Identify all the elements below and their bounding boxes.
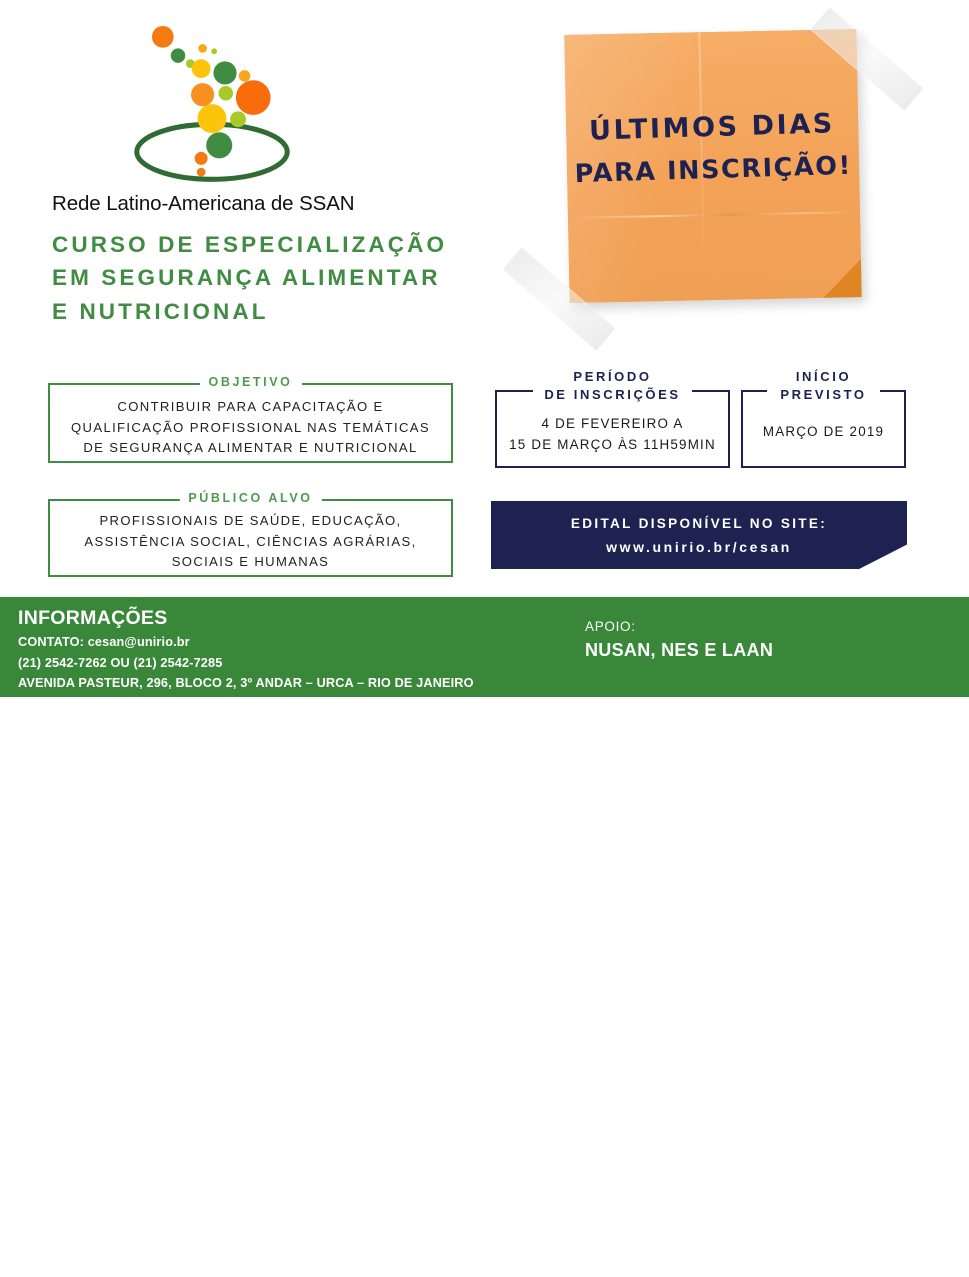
- inicio-box-title: INÍCIO PREVISTO: [741, 368, 906, 405]
- paper-fold-corner-icon: [823, 259, 862, 298]
- logo-dot-15: [197, 168, 206, 177]
- footer-informacoes-block: INFORMAÇÕES CONTATO: cesan@unirio.br (21…: [18, 607, 474, 694]
- logo-dot-14: [195, 152, 208, 165]
- footer-phones: (21) 2542-7262 OU (21) 2542-7285: [18, 653, 474, 674]
- periodo-line-1: 4 DE FEVEREIRO A: [495, 414, 730, 435]
- edital-banner-label: EDITAL DISPONÍVEL NO SITE:: [491, 516, 907, 531]
- page-title-line-1: CURSO DE ESPECIALIZAÇÃO: [52, 228, 482, 261]
- logo-dot-9: [219, 86, 233, 100]
- periodo-title-line-2: DE INSCRIÇÕES: [495, 386, 730, 404]
- footer-contact-email[interactable]: CONTATO: cesan@unirio.br: [18, 632, 474, 653]
- logo-dot-7: [239, 70, 251, 82]
- publico-alvo-box-body: PROFISSIONAIS DE SAÚDE, EDUCAÇÃO, ASSIST…: [50, 501, 451, 573]
- objetivo-line-2: QUALIFICAÇÃO PROFISSIONAL NAS TEMÁTICAS: [58, 418, 443, 439]
- unirio-subtitle-line-1: Universidade Federal do: [894, 1254, 956, 1263]
- footer-heading: INFORMAÇÕES: [18, 607, 474, 630]
- page-title-line-2: EM SEGURANÇA ALIMENTAR: [52, 261, 482, 294]
- footer-apoio-block: APOIO: NUSAN, NES E LAAN: [585, 619, 773, 661]
- sticky-note-text: ÚLTIMOS DIAS PARA INSCRIÇÃO!: [565, 102, 859, 196]
- periodo-title-line-1: PERÍODO: [495, 368, 730, 386]
- publico-alvo-line-1: PROFISSIONAIS DE SAÚDE, EDUCAÇÃO,: [58, 511, 443, 532]
- apoio-value: NUSAN, NES E LAAN: [585, 640, 773, 661]
- footer-address: AVENIDA PASTEUR, 296, BLOCO 2, 3º ANDAR …: [18, 673, 474, 694]
- logo-dot-6: [213, 61, 236, 84]
- logo-dot-8: [191, 83, 214, 106]
- edital-banner[interactable]: EDITAL DISPONÍVEL NO SITE: www.unirio.br…: [491, 501, 907, 569]
- logo-dot-12: [230, 111, 246, 127]
- objetivo-line-1: CONTRIBUIR PARA CAPACITAÇÃO E: [58, 397, 443, 418]
- logo-dot-5: [192, 59, 211, 78]
- objetivo-box: OBJETIVO CONTRIBUIR PARA CAPACITAÇÃO E Q…: [48, 383, 453, 463]
- periodo-inscricoes-box: PERÍODO DE INSCRIÇÕES 4 DE FEVEREIRO A 1…: [495, 368, 730, 468]
- inicio-box-body: MARÇO DE 2019: [741, 422, 906, 443]
- inicio-title-line-1: INÍCIO: [741, 368, 906, 386]
- logo-dot-0: [152, 26, 174, 48]
- objetivo-box-body: CONTRIBUIR PARA CAPACITAÇÃO E QUALIFICAÇ…: [50, 385, 451, 459]
- logo-caption: Rede Latino-Americana de SSAN: [42, 192, 442, 216]
- objetivo-box-title: OBJETIVO: [199, 375, 301, 389]
- inicio-previsto-box: INÍCIO PREVISTO MARÇO DE 2019: [741, 368, 906, 468]
- unirio-wordmark: UNIRIO: [894, 1229, 956, 1256]
- flyer-poster: Rede Latino-Americana de SSAN CURSO DE E…: [0, 0, 969, 697]
- logo-dot-13: [206, 132, 232, 158]
- page-title: CURSO DE ESPECIALIZAÇÃO EM SEGURANÇA ALI…: [52, 228, 482, 328]
- south-america-dots-logo: [87, 18, 337, 188]
- inicio-line-1: MARÇO DE 2019: [741, 422, 906, 443]
- rede-ssan-logo-block: Rede Latino-Americana de SSAN: [42, 18, 442, 216]
- inicio-title-line-2: PREVISTO: [741, 386, 906, 404]
- logo-dot-4: [211, 48, 217, 54]
- unirio-logo: UNIRIO Universidade Federal do Estado do…: [806, 1219, 956, 1277]
- logo-dot-10: [236, 80, 271, 115]
- sticky-note-region: ÚLTIMOS DIAS PARA INSCRIÇÃO!: [505, 8, 925, 348]
- publico-alvo-box: PÚBLICO ALVO PROFISSIONAIS DE SAÚDE, EDU…: [48, 499, 453, 577]
- logo-dot-1: [171, 48, 185, 62]
- publico-alvo-line-2: ASSISTÊNCIA SOCIAL, CIÊNCIAS AGRÁRIAS,: [58, 532, 443, 553]
- periodo-line-2: 15 DE MARÇO ÀS 11H59MIN: [495, 435, 730, 456]
- periodo-box-body: 4 DE FEVEREIRO A 15 DE MARÇO ÀS 11H59MIN: [495, 414, 730, 456]
- logo-dot-3: [198, 44, 207, 53]
- page-title-line-3: E NUTRICIONAL: [52, 295, 482, 328]
- footer-bar: INFORMAÇÕES CONTATO: cesan@unirio.br (21…: [0, 597, 969, 697]
- publico-alvo-line-3: SOCIAIS E HUMANAS: [58, 552, 443, 573]
- publico-alvo-box-title: PÚBLICO ALVO: [179, 491, 321, 505]
- sticky-note: ÚLTIMOS DIAS PARA INSCRIÇÃO!: [564, 29, 861, 303]
- logo-dot-11: [198, 104, 227, 133]
- periodo-box-title: PERÍODO DE INSCRIÇÕES: [495, 368, 730, 405]
- apoio-label: APOIO:: [585, 619, 773, 634]
- unirio-logo-mark-icon: UNIRIO Universidade Federal do Estado do…: [806, 1219, 956, 1277]
- unirio-subtitle-line-2: Estado do Rio de Janeiro: [894, 1264, 956, 1273]
- edital-banner-url[interactable]: www.unirio.br/cesan: [491, 539, 907, 555]
- objetivo-line-3: DE SEGURANÇA ALIMENTAR E NUTRICIONAL: [58, 438, 443, 459]
